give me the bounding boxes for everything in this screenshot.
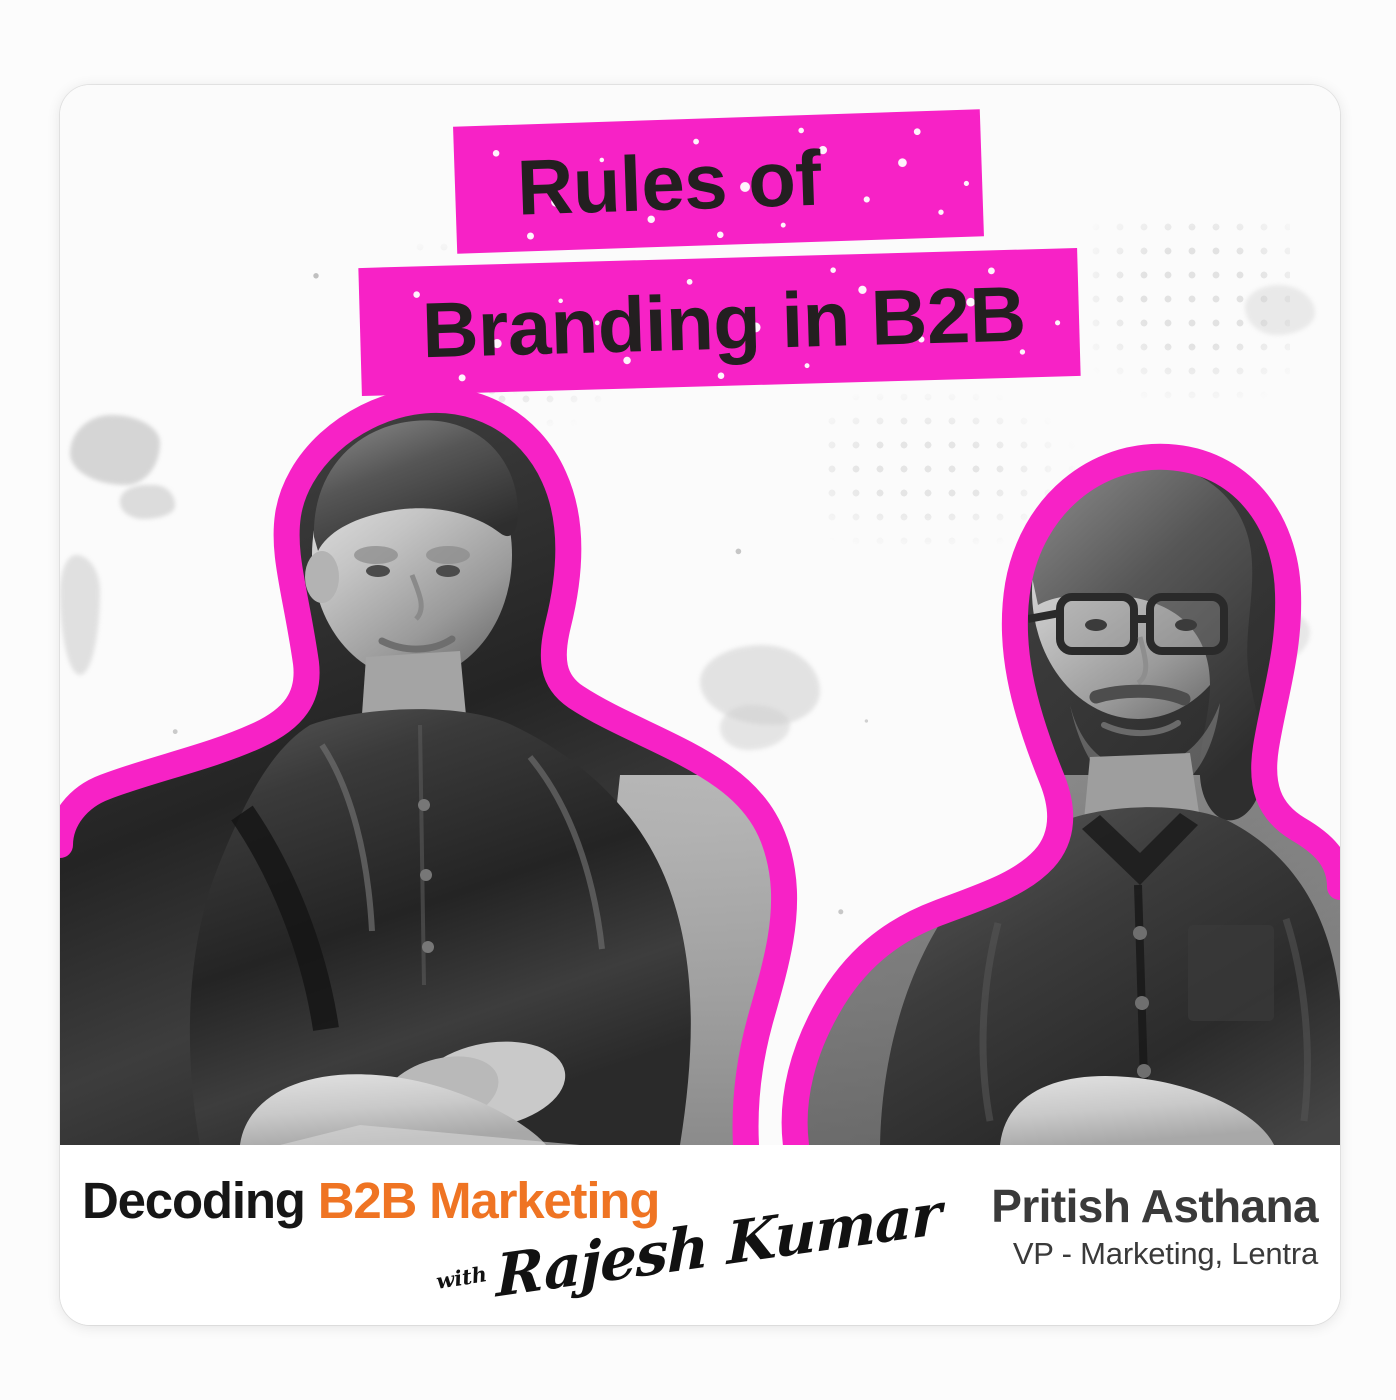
- podcast-episode-card: Rules of Branding in B2B Decoding B2B Ma…: [60, 85, 1340, 1325]
- title-banner-line2: Branding in B2B: [358, 248, 1080, 396]
- guest-role: VP - Marketing, Lentra: [991, 1235, 1318, 1272]
- show-branding: Decoding B2B Marketing with Rajesh Kumar: [82, 1175, 782, 1305]
- host-signature: with Rajesh Kumar: [430, 1213, 760, 1305]
- guest-name: Pritish Asthana: [991, 1181, 1318, 1233]
- title-line2-text: Branding in B2B: [421, 268, 1027, 376]
- hero-photo-area: Rules of Branding in B2B: [60, 85, 1340, 1145]
- footer-bar: Decoding B2B Marketing with Rajesh Kumar…: [60, 1145, 1340, 1325]
- title-banner-line1: Rules of: [453, 109, 984, 253]
- title-line1-text: Rules of: [516, 133, 823, 234]
- guest-credit: Pritish Asthana VP - Marketing, Lentra: [991, 1181, 1318, 1272]
- signature-with-text: with: [434, 1261, 488, 1294]
- show-title-word1: Decoding: [82, 1172, 305, 1229]
